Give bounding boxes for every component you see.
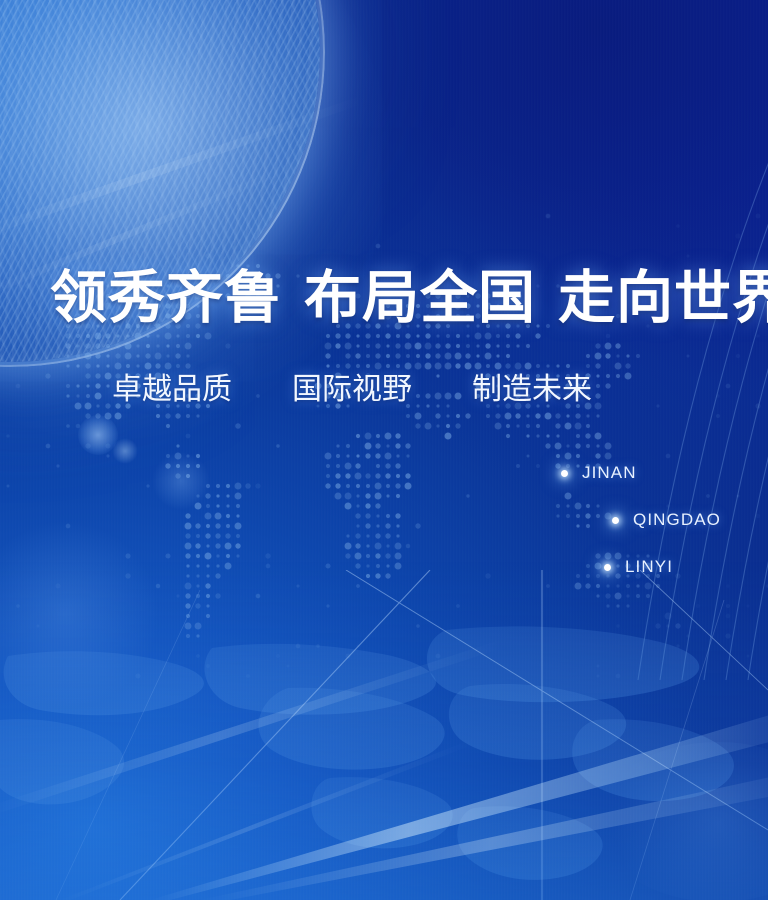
city-label-linyi: LINYI (625, 557, 673, 577)
city-dot-icon (612, 517, 619, 524)
banner-subheadline: 卓越品质国际视野制造未来 (112, 371, 592, 409)
subheadline-part-2: 国际视野 (292, 373, 412, 406)
hero-banner: 领秀齐鲁布局全国走向世界 卓越品质国际视野制造未来 JINAN QINGDAO … (0, 0, 768, 900)
headline-part-1: 领秀齐鲁 (50, 267, 282, 330)
headline-part-2: 布局全国 (304, 267, 536, 330)
subheadline-part-1: 卓越品质 (112, 373, 232, 406)
city-dot-icon (561, 470, 568, 477)
headline-part-3: 走向世界 (558, 267, 768, 330)
city-label-jinan: JINAN (582, 463, 637, 483)
city-marker-qingdao: QINGDAO (612, 510, 721, 530)
city-marker-linyi: LINYI (604, 557, 673, 577)
banner-headline: 领秀齐鲁布局全国走向世界 (50, 266, 730, 332)
city-dot-icon (604, 564, 611, 571)
subheadline-part-3: 制造未来 (472, 373, 592, 406)
city-label-qingdao: QINGDAO (633, 510, 721, 530)
city-marker-jinan: JINAN (561, 463, 637, 483)
banner-content: 领秀齐鲁布局全国走向世界 卓越品质国际视野制造未来 JINAN QINGDAO … (0, 0, 768, 900)
